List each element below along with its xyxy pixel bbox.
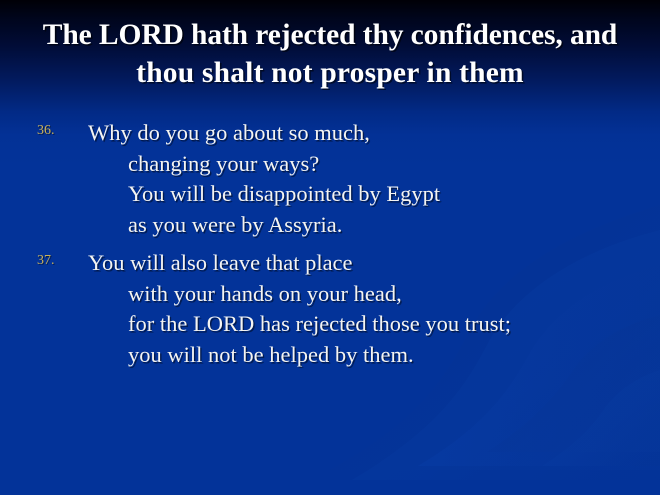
verse-number: 36.	[37, 124, 77, 138]
verse-line: You will be disappointed by Egypt	[88, 179, 660, 210]
slide-title-line-2: thou shalt not prosper in them	[0, 54, 660, 92]
verse-lines: You will also leave that place with your…	[0, 248, 660, 371]
slide-title-line-1: The LORD hath rejected thy confidences, …	[0, 16, 660, 54]
slide-body: 36. Why do you go about so much, changin…	[0, 118, 660, 378]
verse-line: Why do you go about so much,	[88, 118, 660, 149]
verse-line: for the LORD has rejected those you trus…	[88, 309, 660, 340]
verse-line: You will also leave that place	[88, 248, 660, 279]
verse-line: with your hands on your head,	[88, 279, 660, 310]
verse-line: as you were by Assyria.	[88, 210, 660, 241]
verse-block: 36. Why do you go about so much, changin…	[0, 118, 660, 241]
verse-line: you will not be helped by them.	[88, 340, 660, 371]
verse-number: 37.	[37, 254, 77, 268]
presentation-slide: The LORD hath rejected thy confidences, …	[0, 0, 660, 495]
verse-lines: Why do you go about so much, changing yo…	[0, 118, 660, 241]
slide-title: The LORD hath rejected thy confidences, …	[0, 16, 660, 92]
verse-block: 37. You will also leave that place with …	[0, 248, 660, 371]
verse-line: changing your ways?	[88, 149, 660, 180]
